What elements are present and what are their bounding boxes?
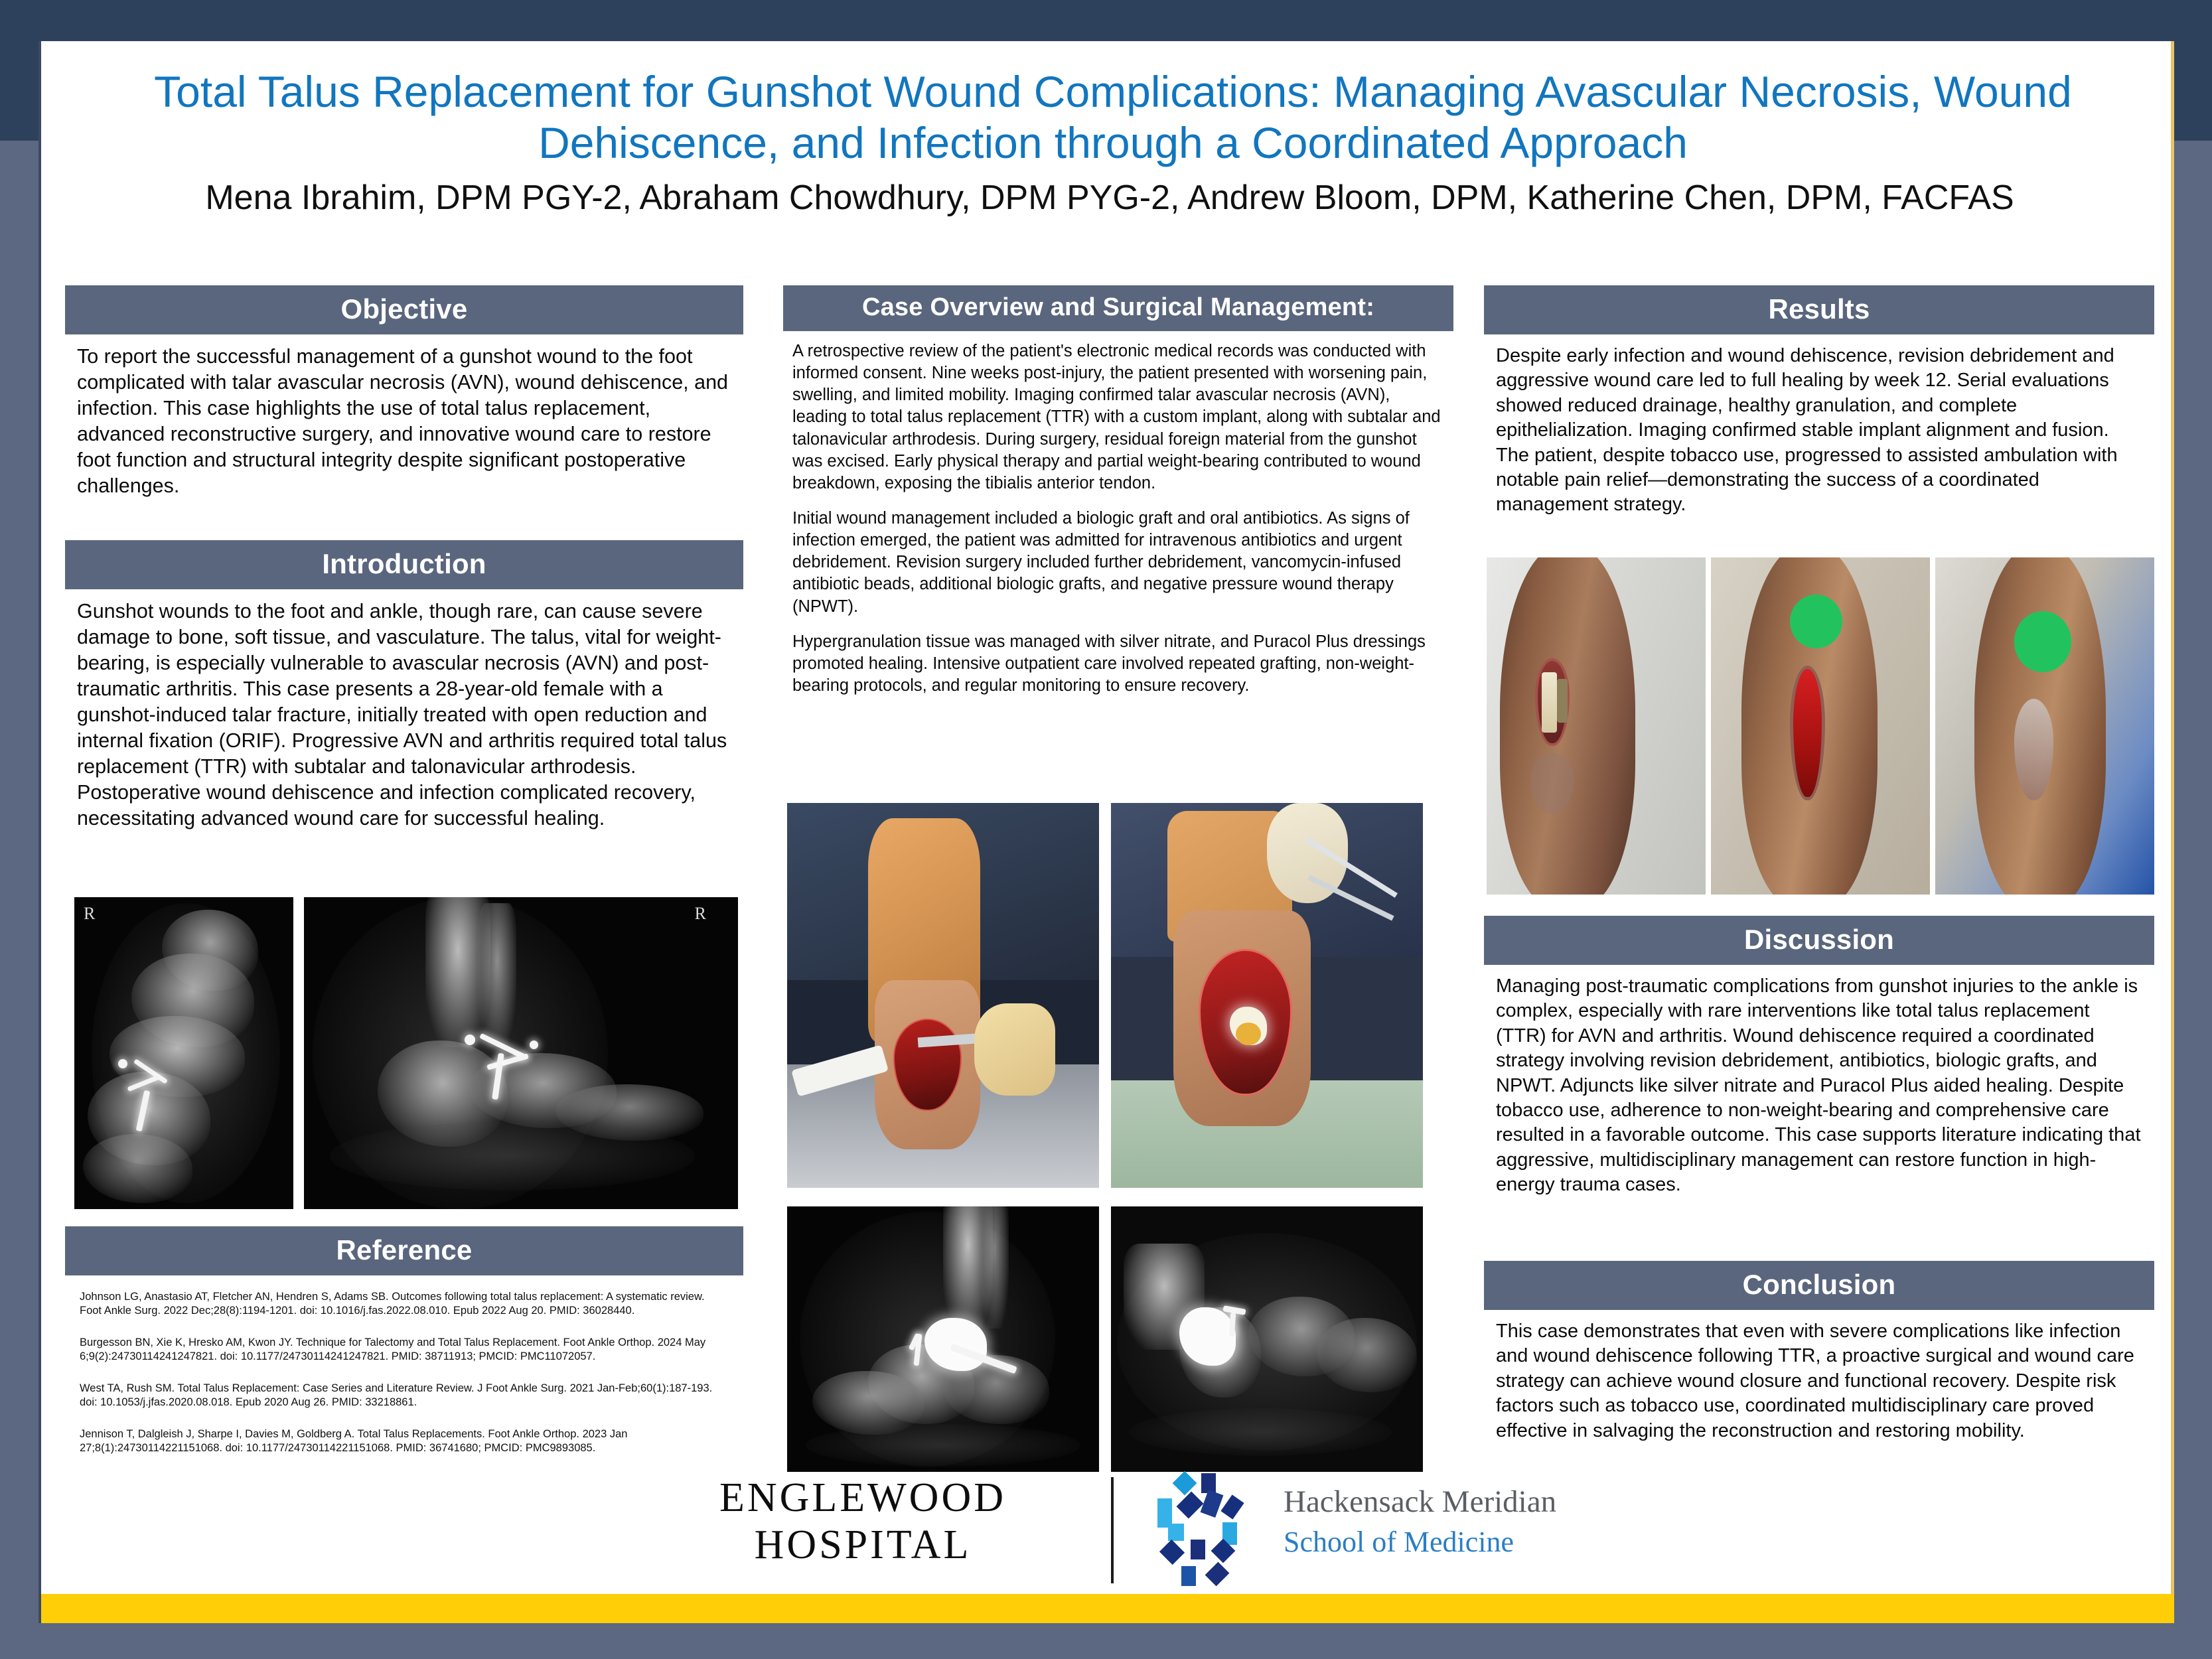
- intraop-photo-left: [787, 803, 1099, 1188]
- hackensack-logo-line2: School of Medicine: [1284, 1525, 1556, 1560]
- wound-photo-2: [1711, 557, 1930, 895]
- xray-preop-lateral-image: R: [304, 897, 738, 1209]
- hackensack-diamond-mark-icon: [1151, 1472, 1270, 1591]
- section-reference: Reference Johnson LG, Anastasio AT, Flet…: [65, 1226, 743, 1473]
- section-objective: Objective To report the successful manag…: [65, 285, 743, 499]
- reference-entry: West TA, Rush SM. Total Talus Replacemen…: [80, 1382, 725, 1410]
- section-body-introduction: Gunshot wounds to the foot and ankle, th…: [65, 589, 743, 831]
- section-results: Results Despite early infection and woun…: [1484, 285, 2154, 518]
- page-title: Total Talus Replacement for Gunshot Woun…: [121, 66, 2105, 168]
- section-heading-case-overview: Case Overview and Surgical Management:: [783, 285, 1453, 331]
- wound-photo-3: [1935, 557, 2154, 895]
- hackensack-logo-text: Hackensack Meridian School of Medicine: [1284, 1485, 1556, 1559]
- reference-entry: Burgesson BN, Xie K, Hresko AM, Kwon JY.…: [80, 1336, 725, 1364]
- figure-postop-radiographs: [787, 1206, 1451, 1472]
- poster-root: Total Talus Replacement for Gunshot Woun…: [0, 0, 2212, 1659]
- section-body-results: Despite early infection and wound dehisc…: [1484, 334, 2154, 518]
- section-body-case-overview: A retrospective review of the patient's …: [783, 331, 1453, 697]
- englewood-logo-line2: HOSPITAL: [664, 1522, 1062, 1569]
- section-body-objective: To report the successful management of a…: [65, 334, 743, 499]
- author-list: Mena Ibrahim, DPM PGY-2, Abraham Chowdhu…: [94, 179, 2125, 217]
- xray-postop-oblique-image: [1111, 1206, 1423, 1472]
- section-heading-objective: Objective: [65, 285, 743, 334]
- xray-side-marker-r: R: [84, 904, 95, 924]
- section-heading-introduction: Introduction: [65, 540, 743, 589]
- section-case-overview: Case Overview and Surgical Management: A…: [783, 285, 1453, 697]
- hackensack-logo-line1: Hackensack Meridian: [1284, 1485, 1556, 1520]
- section-body-discussion: Managing post-traumatic complications fr…: [1484, 965, 2154, 1198]
- hackensack-meridian-logo: Hackensack Meridian School of Medicine: [1151, 1469, 1642, 1595]
- reference-entry: Jennison T, Dalgleish J, Sharpe I, Davie…: [80, 1427, 725, 1456]
- xray-side-marker-r-2: R: [695, 904, 706, 924]
- poster-gold-accent-bar: [38, 1594, 2174, 1623]
- poster-page: Total Talus Replacement for Gunshot Woun…: [38, 41, 2174, 1623]
- englewood-logo-line1: ENGLEWOOD: [664, 1475, 1062, 1522]
- xray-postop-lateral-image: [787, 1206, 1099, 1472]
- green-dot-marker: [1790, 595, 1842, 648]
- section-heading-discussion: Discussion: [1484, 916, 2154, 965]
- section-introduction: Introduction Gunshot wounds to the foot …: [65, 540, 743, 831]
- page-right-edge: [2171, 41, 2174, 1623]
- figure-wound-progression: [1487, 557, 2154, 895]
- wound-photo-1: [1487, 557, 1706, 895]
- section-heading-reference: Reference: [65, 1226, 743, 1275]
- section-heading-conclusion: Conclusion: [1484, 1261, 2154, 1310]
- logo-divider: [1111, 1477, 1114, 1583]
- section-conclusion: Conclusion This case demonstrates that e…: [1484, 1261, 2154, 1443]
- section-heading-results: Results: [1484, 285, 2154, 334]
- section-body-conclusion: This case demonstrates that even with se…: [1484, 1310, 2154, 1443]
- xray-preop-ap-image: R: [74, 897, 293, 1209]
- figure-preop-radiographs: R R: [74, 897, 738, 1209]
- englewood-hospital-logo: ENGLEWOOD HOSPITAL: [664, 1475, 1062, 1569]
- footer-logos: ENGLEWOOD HOSPITAL: [41, 1456, 2177, 1615]
- intraop-photo-right: [1111, 803, 1423, 1188]
- section-discussion: Discussion Managing post-traumatic compl…: [1484, 916, 2154, 1198]
- figure-intraoperative-photos: [787, 803, 1451, 1188]
- reference-list: Johnson LG, Anastasio AT, Fletcher AN, H…: [65, 1275, 743, 1456]
- green-dot-marker: [2014, 611, 2071, 672]
- reference-entry: Johnson LG, Anastasio AT, Fletcher AN, H…: [80, 1290, 725, 1319]
